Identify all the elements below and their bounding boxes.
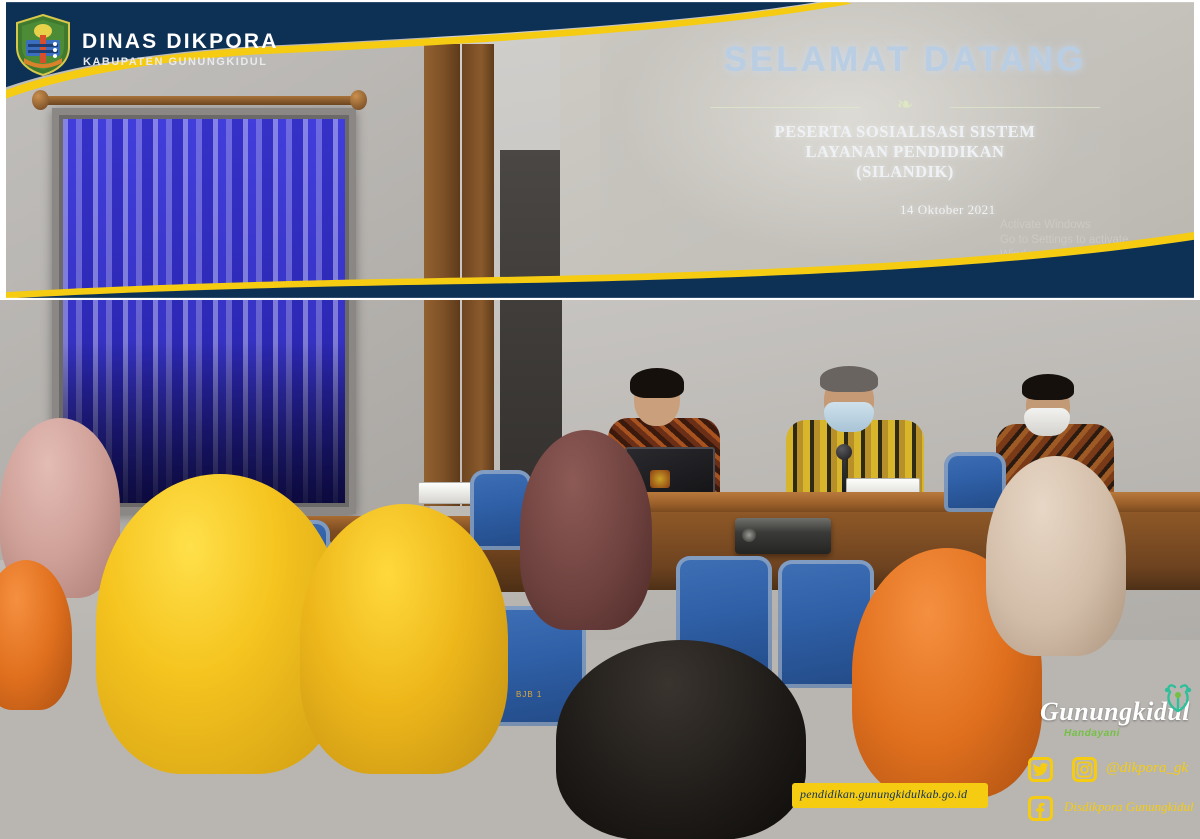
speaker-3-face-mask [1024, 408, 1070, 436]
windows-activation-watermark: Activate Windows Go to Settings to activ… [1000, 218, 1200, 263]
wood-panel-left [424, 44, 460, 506]
audience-member-8 [986, 456, 1126, 656]
slide-subject-line1: PESERTA SOSIALISASI SISTEM [690, 122, 1120, 142]
watermark-line1: Activate Windows [1000, 218, 1200, 233]
slide-subject-line2: LAYANAN PENDIDIKAN [690, 142, 1120, 162]
watermark-line3: Windows. [1000, 248, 1200, 263]
blue-curtain [63, 119, 345, 503]
slide-welcome-title: SELAMAT DATANG [690, 40, 1120, 80]
curtain-rod [40, 96, 356, 105]
doorway-shadow [500, 150, 562, 480]
audience-member-5 [520, 430, 652, 630]
slide-subject: PESERTA SOSIALISASI SISTEM LAYANAN PENDI… [690, 122, 1120, 182]
poster-canvas: SELAMAT DATANG ❧ PESERTA SOSIALISASI SIS… [0, 0, 1200, 839]
microphone-head [836, 444, 852, 460]
chair-4-label: BJB 1 [516, 690, 542, 699]
curtain-rod-cap-right [350, 90, 367, 110]
wood-panel-right [462, 44, 494, 506]
slide-subject-line3: (SILANDIK) [690, 162, 1120, 182]
speaker-3-hair [1022, 374, 1074, 400]
watermark-line2: Go to Settings to activate [1000, 233, 1200, 248]
audience-member-6 [556, 640, 806, 839]
speaker-2-hair [820, 366, 878, 392]
seminar-photograph: SELAMAT DATANG ❧ PESERTA SOSIALISASI SIS… [0, 0, 1200, 839]
curtain-rod-cap-left [32, 90, 49, 110]
slide-ornament-divider: ❧ [710, 96, 1100, 118]
projector-lens [742, 528, 756, 542]
laptop-screen-badge [650, 470, 670, 488]
audience-member-4 [300, 504, 508, 774]
slide-date: 14 Oktober 2021 [900, 202, 1090, 218]
speaker-1-hair [630, 368, 684, 398]
slide-ornament-icon: ❧ [897, 92, 914, 117]
speaker-2-face-mask [824, 402, 874, 432]
